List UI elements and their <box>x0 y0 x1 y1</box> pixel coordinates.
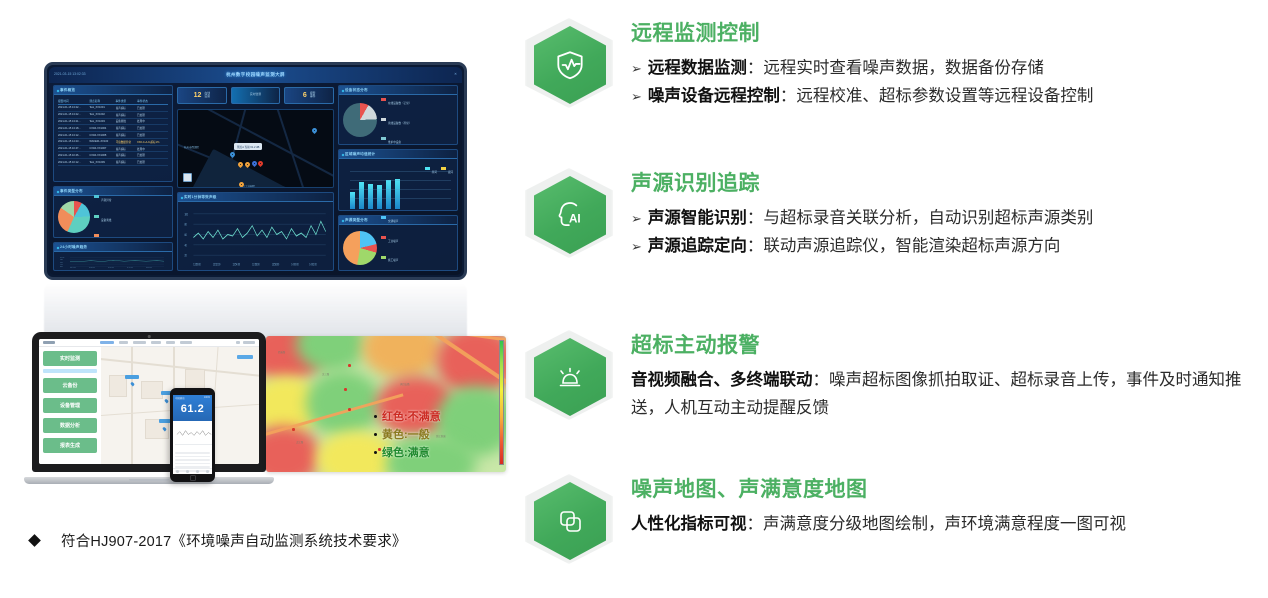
legend-label: 工业噪声 <box>388 240 398 243</box>
panel-day-trend-title: 24小时噪声趋势 <box>60 245 87 250</box>
svg-text:80: 80 <box>60 260 63 261</box>
arrow-bullet-icon: ➢ <box>631 58 642 80</box>
bar <box>368 184 373 209</box>
feature-1-line-1: ➢ 远程数据监测：远程实时查看噪声数据，数据备份存储 <box>631 54 1268 82</box>
map-tooltip: 测点A 当前 61.2 dB <box>234 143 262 150</box>
event-type-pie-row: 噪声超标报警（1） 声源异常 设备离线 数据异常 环境监测系统异常 <box>58 199 168 234</box>
feature-1-line-2: ➢ 噪声设备远程控制：远程校准、超标参数设置等远程设备控制 <box>631 82 1268 110</box>
phone-tabbar <box>173 468 212 474</box>
nav-item[interactable] <box>100 341 114 344</box>
layers-icon <box>534 482 606 560</box>
cell: 噪声超标 <box>116 145 138 152</box>
panel-live-wave: 实时1分钟等效声级 <box>177 192 334 271</box>
arrow-bullet-icon: ➢ <box>631 236 642 258</box>
stat-value: 12 <box>194 92 202 99</box>
legend-row: 红色:不满意 <box>374 408 441 424</box>
features-column: 远程监测控制 ➢ 远程数据监测：远程实时查看噪声数据，数据备份存储 ➢ 噪声设备… <box>520 0 1268 598</box>
live-wave-chart: 1008060 4020 13:50:0013:52:0013:54:00 13… <box>182 205 329 267</box>
cell: CX1R-XX1004 <box>89 125 115 132</box>
app-nav <box>60 341 231 344</box>
cell: CX1R-XX1008 <box>89 152 115 159</box>
tab-home[interactable] <box>173 469 183 474</box>
line-rest: ：联动声源追踪仪，智能渲染超标声源方向 <box>747 237 1061 255</box>
cell: WAVE01-XX100 <box>89 138 115 145</box>
table-row[interactable]: 2021-01-15 10:12... Test_XX1009 噪声超标 已处理 <box>58 159 168 166</box>
bold-lead: 噪声设备远程控制 <box>648 87 780 105</box>
svg-text:13:00: 13:00 <box>108 267 114 268</box>
cell: 2021-01-15 13:22... <box>58 111 89 118</box>
dashboard-monitor-image: 杭州数字校园噪声监测大屏 2021-03-15 13:02:33 ✕ 事件概览 <box>44 62 467 280</box>
feature-4-paragraph: 人性化指标可视：声满意度分级地图绘制，声环境满意程度一图可视 <box>631 510 1268 538</box>
map-action-button[interactable] <box>237 355 253 359</box>
feature-1-text: 远程监测控制 ➢ 远程数据监测：远程实时查看噪声数据，数据备份存储 ➢ 噪声设备… <box>618 14 1268 112</box>
marker-blue[interactable] <box>252 161 257 168</box>
footnote-text: 符合HJ907-2017《环境噪声自动监测系统技术要求》 <box>61 530 407 551</box>
arrow-bullet-icon: ➢ <box>631 86 642 108</box>
bar <box>350 192 355 209</box>
feature-2-line-1: ➢ 声源智能识别：与超标录音关联分析，自动识别超标声源类别 <box>631 204 1268 232</box>
bullet-icon <box>374 451 377 454</box>
laptop-notch <box>129 479 169 481</box>
line-rest: ：与超标录音关联分析，自动识别超标声源类别 <box>747 209 1094 227</box>
line-rest: ：远程校准、超标参数设置等远程设备控制 <box>780 87 1094 105</box>
bullet-icon <box>374 433 377 436</box>
web-app-sidebar: 实时监测 云备份 设备管理 数据分析 报表生成 <box>39 347 101 464</box>
tab-profile[interactable] <box>202 469 212 474</box>
marker-blue[interactable] <box>230 152 235 159</box>
cell: CX1R-XX1007 <box>89 145 115 152</box>
bold-lead: 音视频融合、多终端联动 <box>631 371 813 389</box>
legend-label: 声源异常 <box>101 199 111 202</box>
laptop-device-image: 实时监测 云备份 设备管理 数据分析 报表生成 <box>24 332 274 492</box>
svg-text:14:00: 14:00 <box>127 267 133 268</box>
hex-badge <box>534 26 606 104</box>
stat-realtime[interactable]: 实时监测 <box>231 87 281 104</box>
svg-text:13:52:00: 13:52:00 <box>213 262 221 267</box>
map-pin[interactable] <box>164 399 169 404</box>
bar <box>386 180 391 209</box>
source-legend: 交通噪声 工业噪声 施工噪声 生活噪声 <box>381 215 398 271</box>
sidebar-item-analysis[interactable]: 数据分析 <box>43 418 97 433</box>
user-name <box>243 341 255 344</box>
footnote: 符合HJ907-2017《环境噪声自动监测系统技术要求》 <box>30 530 407 551</box>
feature-2-line-2-content: 声源追踪定向：联动声源追踪仪，智能渲染超标声源方向 <box>648 232 1061 260</box>
panel-region-body: 昼间 夜间 <box>339 159 457 210</box>
feature-active-alarm: 超标主动报警 音视频融合、多终端联动：噪声超标图像抓拍取证、超标录音上传，事件及… <box>520 326 1268 424</box>
user-icon[interactable] <box>236 341 240 344</box>
svg-text:13:54:00: 13:54:00 <box>233 262 241 267</box>
nav-item[interactable] <box>151 341 161 344</box>
cell: 已处理 <box>137 132 168 139</box>
region-bar-chart <box>343 169 453 211</box>
feature-1-icon-wrap <box>520 14 618 112</box>
cell: 处理中 <box>137 145 168 152</box>
cell: 2021-01-15 13:12... <box>58 132 89 139</box>
cell: 噪声超标 <box>116 152 138 159</box>
dashboard-center-column: 12 在线设备 实时监测 6 报警事件 <box>177 85 334 271</box>
cell: 噪声超标 <box>116 111 138 118</box>
svg-text:15:00: 15:00 <box>146 267 152 268</box>
svg-text:20: 20 <box>60 266 63 267</box>
nav-item[interactable] <box>133 341 146 344</box>
stat-label: 在线设备 <box>204 92 210 98</box>
svg-text:14:02:00: 14:02:00 <box>309 262 317 267</box>
hex-badge: AI <box>534 176 606 254</box>
list-item[interactable] <box>175 452 210 454</box>
legend-label: 离线设备数（异常） <box>388 122 411 125</box>
phone-wave-chart <box>175 423 212 445</box>
svg-text:40: 40 <box>184 243 186 248</box>
cell: CX1R-XX1005 <box>89 132 115 139</box>
app-logo <box>43 341 55 344</box>
panel-live-wave-title: 实时1分钟等效声级 <box>184 195 217 200</box>
cell: 2021-01-15 10:46... <box>58 152 89 159</box>
map-label: 杭州市西湖区 <box>184 145 199 149</box>
carrier-label: 中国移动 <box>175 396 185 400</box>
laptop-screen: 实时监测 云备份 设备管理 数据分析 报表生成 <box>39 339 259 464</box>
phone-noise-value: 61.2 <box>173 400 212 419</box>
cell: 噪声超标 <box>116 125 138 132</box>
sidebar-item-devices[interactable]: 设备管理 <box>43 398 97 413</box>
dashboard-left-column: 事件概览 报警时间 测点名称 事件类型 事件状态 <box>53 85 173 271</box>
paragraph-rest: ：声满意度分级地图绘制，声环境满意程度一图可视 <box>747 515 1127 533</box>
event-type-legend: 噪声超标报警（1） 声源异常 设备离线 数据异常 环境监测系统异常 <box>94 186 123 238</box>
legend-label: 维护中设备 <box>388 141 401 144</box>
panel-region-header: 区域噪声均值统计 <box>339 150 457 159</box>
diamond-bullet-icon <box>28 534 41 547</box>
svg-text:40: 40 <box>60 264 63 265</box>
panel-event-type-pie: 事件类型分布 噪声超标报警（1） 声源异常 设备离线 <box>53 186 173 238</box>
web-app-main: 实时监测 云备份 设备管理 数据分析 报表生成 <box>39 347 259 464</box>
dashboard-timestamp: 2021-03-15 13:02:33 <box>54 72 85 76</box>
panel-source-pie: 声源类型分布 交通噪声 工业噪声 施工噪声 <box>338 215 458 271</box>
feature-4-icon-wrap <box>520 470 618 568</box>
phone-header: 中国移动 100% 61.2 <box>173 395 212 421</box>
panel-device-pie: 设备状态分布 在线设备数（正常） 离线设备数（异常） 维护中设备 <box>338 85 458 145</box>
tab-data[interactable] <box>183 469 193 474</box>
slide-root: 杭州数字校园噪声监测大屏 2021-03-15 13:02:33 ✕ 事件概览 <box>0 0 1268 598</box>
feature-2-text: 声源识别追踪 ➢ 声源智能识别：与超标录音关联分析，自动识别超标声源类别 ➢ 声… <box>618 164 1268 262</box>
bold-lead: 远程数据监测 <box>648 59 747 77</box>
battery-label: 100% <box>204 396 210 399</box>
cell: 已处理 <box>137 105 168 112</box>
panel-events-body: 报警时间 测点名称 事件类型 事件状态 2021-01-15 13:22... <box>54 95 172 181</box>
legend-row: 黄色:一般 <box>374 426 441 442</box>
table-row[interactable]: 2021-01-15 13:21... Test_XX1003 设备离线 处理中 <box>58 118 168 125</box>
nav-item[interactable] <box>166 341 175 344</box>
dashboard-screen: 杭州数字校园噪声监测大屏 2021-03-15 13:02:33 ✕ 事件概览 <box>44 62 467 280</box>
bold-lead: 声源追踪定向 <box>648 237 747 255</box>
laptop-lid: 实时监测 云备份 设备管理 数据分析 报表生成 <box>32 332 266 472</box>
table-row[interactable]: 2021-01-15 10:47... CX1R-XX1007 噪声超标 处理中 <box>58 145 168 152</box>
sidebar-item-reports[interactable]: 报表生成 <box>43 438 97 453</box>
dashboard-map[interactable]: 杭州市西湖区 滨江工业园区 文三路监测点 测点A 当前 61.2 dB <box>177 109 334 188</box>
event-type-pie-chart <box>58 201 90 233</box>
table-row[interactable]: 2021-01-15 10:46... CX1R-XX1008 噪声超标 已处理 <box>58 152 168 159</box>
legend-label: 设备离线 <box>101 219 111 222</box>
cell: Test_XX1002 <box>89 111 115 118</box>
panel-day-trend-body: 1008060 4020 11:0012:0013:00 14:0015:00 <box>54 252 172 270</box>
panel-region-bars: 区域噪声均值统计 昼间 夜间 <box>338 149 458 211</box>
marker-red[interactable] <box>258 161 263 168</box>
events-table: 报警时间 测点名称 事件类型 事件状态 2021-01-15 13:22... <box>58 98 168 166</box>
feature-noise-map: 噪声地图、声满意度地图 人性化指标可视：声满意度分级地图绘制，声环境满意程度一图… <box>520 470 1268 568</box>
legend-label: 在线设备数（正常） <box>388 102 411 105</box>
source-pie-row: 交通噪声 工业噪声 施工噪声 生活噪声 <box>343 228 453 267</box>
panel-device-title: 设备状态分布 <box>345 88 368 93</box>
svg-text:100: 100 <box>184 212 188 217</box>
cell: XX0-C-A-9-超标1% <box>137 138 168 145</box>
line-rest: ：远程实时查看噪声数据，数据备份存储 <box>747 59 1044 77</box>
legend-yellow: 黄色:一般 <box>382 426 430 442</box>
ai-head-icon: AI <box>534 176 606 254</box>
cell: Test_XX1003 <box>89 118 115 125</box>
dashboard-titlebar: 杭州数字校园噪声监测大屏 <box>49 67 462 83</box>
svg-text:13:56:00: 13:56:00 <box>252 262 260 267</box>
panel-events-title: 事件概览 <box>60 88 75 93</box>
feature-source-identification: AI 声源识别追踪 ➢ 声源智能识别：与超标录音关联分析，自动识别超标声源类别 … <box>520 164 1268 262</box>
stat-label: 实时监测 <box>250 93 261 96</box>
feature-3-paragraph: 音视频融合、多终端联动：噪声超标图像抓拍取证、超标录音上传，事件及时通知推送，人… <box>631 366 1268 423</box>
alarm-siren-icon <box>534 338 606 416</box>
marker-orange[interactable] <box>245 162 250 169</box>
device-legend: 在线设备数（正常） 离线设备数（异常） 维护中设备 <box>381 91 411 145</box>
cell: 已处理 <box>137 125 168 132</box>
home-button-icon[interactable] <box>190 475 196 481</box>
svg-text:60: 60 <box>60 262 63 263</box>
panel-day-trend: 24小时噪声趋势 <box>53 242 173 271</box>
svg-text:60: 60 <box>184 232 186 237</box>
hex-badge <box>534 482 606 560</box>
sidebar-item-cloudbackup[interactable]: 云备份 <box>43 378 97 393</box>
dashboard-title: 杭州数字校园噪声监测大屏 <box>226 72 285 78</box>
bar <box>395 179 400 209</box>
device-pie-row: 在线设备数（正常） 离线设备数（异常） 维护中设备 <box>343 98 453 141</box>
hex-badge <box>534 338 606 416</box>
list-item[interactable] <box>175 456 210 458</box>
svg-text:100: 100 <box>60 258 64 259</box>
cell: 噪声超标 <box>116 159 138 166</box>
feature-1-line-2-content: 噪声设备远程控制：远程校准、超标参数设置等远程设备控制 <box>648 82 1094 110</box>
dashboard-inner: 杭州数字校园噪声监测大屏 2021-03-15 13:02:33 ✕ 事件概览 <box>49 67 462 275</box>
panel-events-header: 事件概览 <box>54 86 172 95</box>
bold-lead: 声源智能识别 <box>648 209 747 227</box>
svg-text:20: 20 <box>184 253 186 258</box>
feature-2-title: 声源识别追踪 <box>631 167 1268 197</box>
phone-screen: 中国移动 100% 61.2 <box>173 395 212 474</box>
stat-online-devices: 12 在线设备 <box>177 87 227 104</box>
left-visuals-column: 杭州数字校园噪声监测大屏 2021-03-15 13:02:33 ✕ 事件概览 <box>0 0 520 598</box>
stat-alarm-events: 6 报警事件 <box>284 87 334 104</box>
panel-event-type-title: 事件类型分布 <box>60 189 83 194</box>
panel-region-title: 区域噪声均值统计 <box>345 152 375 157</box>
cell: 已处理 <box>137 159 168 166</box>
day-trend-line-chart: 1008060 4020 11:0012:0013:00 14:0015:00 <box>58 256 168 268</box>
feature-3-title: 超标主动报警 <box>631 329 1268 359</box>
feature-2-line-2: ➢ 声源追踪定向：联动声源追踪仪，智能渲染超标声源方向 <box>631 232 1268 260</box>
bullet-icon <box>374 415 377 418</box>
panel-live-wave-body: 1008060 4020 13:50:0013:52:0013:54:00 13… <box>178 202 333 270</box>
source-pie-chart <box>343 231 377 265</box>
cell: 2021-01-15 14:23... <box>58 138 89 145</box>
table-row[interactable]: 2021-01-15 13:22... Test_XX1001 噪声超标 已处理 <box>58 105 168 112</box>
panel-source-title: 声源类型分布 <box>345 218 368 223</box>
list-item[interactable] <box>175 463 210 465</box>
list-item[interactable] <box>175 459 210 461</box>
cell: Test_XX1009 <box>89 159 115 166</box>
table-row[interactable]: 2021-01-15 13:22... Test_XX1002 噪声超标 已处理 <box>58 111 168 118</box>
marker-orange[interactable] <box>239 182 244 188</box>
sidebar-subitem[interactable] <box>43 369 97 373</box>
legend-red: 红色:不满意 <box>382 408 441 424</box>
shield-pulse-icon <box>534 26 606 104</box>
nav-item[interactable] <box>180 341 192 344</box>
stat-label: 报警事件 <box>310 92 316 98</box>
feature-1-line-1-content: 远程数据监测：远程实时查看噪声数据，数据备份存储 <box>648 54 1044 82</box>
map-tag[interactable] <box>125 375 139 379</box>
arrow-bullet-icon: ➢ <box>631 208 642 230</box>
legend-label: 施工噪声 <box>388 259 398 262</box>
bold-lead: 人性化指标可视 <box>631 515 747 533</box>
cell: 2021-01-15 13:18... <box>58 125 89 132</box>
tab-alerts[interactable] <box>193 469 203 474</box>
nav-item[interactable] <box>119 341 128 344</box>
phone-body <box>173 421 212 474</box>
table-row[interactable]: 2021-01-15 13:18... CX1R-XX1004 噪声超标 已处理 <box>58 125 168 132</box>
svg-text:12:00: 12:00 <box>89 267 95 268</box>
cell: 环境数据异常 <box>116 138 138 145</box>
panel-source-body: 交通噪声 工业噪声 施工噪声 生活噪声 <box>339 225 457 270</box>
svg-text:11:00: 11:00 <box>70 267 76 268</box>
feature-2-icon-wrap: AI <box>520 164 618 262</box>
cell: 噪声超标 <box>116 132 138 139</box>
dashboard-right-column: 设备状态分布 在线设备数（正常） 离线设备数（异常） 维护中设备 <box>338 85 458 271</box>
phone-device-image: 中国移动 100% 61.2 <box>170 388 215 482</box>
cell: 已处理 <box>137 152 168 159</box>
stat-value: 6 <box>303 92 307 99</box>
feature-3-icon-wrap <box>520 326 618 424</box>
cell: 已处理 <box>137 111 168 118</box>
panel-event-type-body: 噪声超标报警（1） 声源异常 设备离线 数据异常 环境监测系统异常 <box>54 196 172 237</box>
legend-label: 交通噪声 <box>388 220 398 223</box>
cell: 噪声超标 <box>116 105 138 112</box>
feature-1-title: 远程监测控制 <box>631 17 1268 47</box>
webcam-icon <box>148 335 151 338</box>
feature-remote-monitoring: 远程监测控制 ➢ 远程数据监测：远程实时查看噪声数据，数据备份存储 ➢ 噪声设备… <box>520 14 1268 112</box>
panel-live-wave-header: 实时1分钟等效声级 <box>178 193 333 202</box>
svg-text:14:00:00: 14:00:00 <box>291 262 299 267</box>
sidebar-item-realtime[interactable]: 实时监测 <box>43 351 97 366</box>
table-row[interactable]: 2021-01-15 13:12... CX1R-XX1005 噪声超标 已处理 <box>58 132 168 139</box>
heatmap-color-scale <box>499 340 504 465</box>
legend-row: 绿色:满意 <box>374 444 441 460</box>
cell: 2021-01-15 13:21... <box>58 118 89 125</box>
svg-text:13:58:00: 13:58:00 <box>272 262 280 267</box>
cell: 2021-01-15 10:12... <box>58 159 89 166</box>
satisfaction-heatmap-image: 西溪路 文三路 天目山路 之江路 钱江新城 红色:不满意 黄色:一般 绿色:满意 <box>266 336 506 472</box>
panel-day-trend-header: 24小时噪声趋势 <box>54 243 172 252</box>
cell: 处理中 <box>137 118 168 125</box>
panel-device-body: 在线设备数（正常） 离线设备数（异常） 维护中设备 <box>339 95 457 144</box>
panel-events: 事件概览 报警时间 测点名称 事件类型 事件状态 <box>53 85 173 182</box>
svg-text:80: 80 <box>184 222 186 227</box>
dashboard-stat-row: 12 在线设备 实时监测 6 报警事件 <box>177 85 334 105</box>
cell: 2021-01-15 13:22... <box>58 105 89 112</box>
cell: 设备离线 <box>116 118 138 125</box>
table-row[interactable]: 2021-01-15 14:23... WAVE01-XX100 环境数据异常 … <box>58 138 168 145</box>
bar <box>359 182 364 209</box>
feature-2-line-1-content: 声源智能识别：与超标录音关联分析，自动识别超标声源类别 <box>648 204 1094 232</box>
device-pie-chart <box>343 103 377 137</box>
svg-text:AI: AI <box>569 212 581 225</box>
app-user-area <box>236 341 255 344</box>
marker-orange[interactable] <box>238 162 243 169</box>
feature-4-text: 噪声地图、声满意度地图 人性化指标可视：声满意度分级地图绘制，声环境满意程度一图… <box>618 470 1268 568</box>
map-layer-toggle[interactable] <box>183 173 192 182</box>
marker-blue[interactable] <box>312 128 317 135</box>
svg-text:13:50:00: 13:50:00 <box>193 262 201 267</box>
heatmap-legend: 红色:不满意 黄色:一般 绿色:满意 <box>374 408 441 460</box>
dashboard-body: 事件概览 报警时间 测点名称 事件类型 事件状态 <box>53 85 458 271</box>
legend-green: 绿色:满意 <box>382 444 430 460</box>
feature-4-title: 噪声地图、声满意度地图 <box>631 473 1268 503</box>
cell: Test_XX1001 <box>89 105 115 112</box>
web-app-topbar <box>39 339 259 347</box>
feature-3-text: 超标主动报警 音视频融合、多终端联动：噪声超标图像抓拍取证、超标录音上传，事件及… <box>618 326 1268 424</box>
cell: 2021-01-15 10:47... <box>58 145 89 152</box>
close-icon[interactable]: ✕ <box>454 72 457 76</box>
